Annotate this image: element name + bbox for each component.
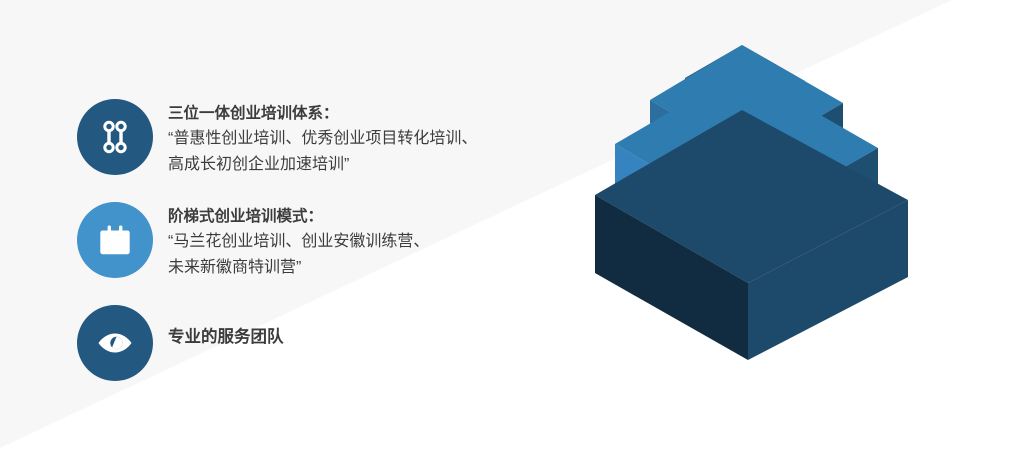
feature-item-0: 三位一体创业培训体系： “普惠性创业培训、优秀创业项目转化培训、 高成长初创企业… <box>77 99 477 178</box>
feature-icon-badge-2 <box>77 305 153 381</box>
feature-text-2: 专业的服务团队 <box>168 305 284 350</box>
feature-title-1: 阶梯式创业培训模式： <box>168 204 429 229</box>
feature-body-0: “普惠性创业培训、优秀创业项目转化培训、 高成长初创企业加速培训” <box>168 126 477 178</box>
feature-icon-badge-1 <box>77 202 153 278</box>
feature-item-2: 专业的服务团队 <box>77 305 284 381</box>
eye-icon <box>95 323 135 363</box>
link-nodes-icon <box>95 117 135 157</box>
slide-canvas: 三位一体创业培训体系： “普惠性创业培训、优秀创业项目转化培训、 高成长初创企业… <box>0 0 1022 474</box>
pyramid-svg <box>560 40 960 440</box>
feature-text-0: 三位一体创业培训体系： “普惠性创业培训、优秀创业项目转化培训、 高成长初创企业… <box>168 99 477 178</box>
feature-body-1: “马兰花创业培训、创业安徽训练营、 未来新徽商特训营” <box>168 229 429 281</box>
feature-list: 三位一体创业培训体系： “普惠性创业培训、优秀创业项目转化培训、 高成长初创企业… <box>0 0 560 474</box>
feature-title-2: 专业的服务团队 <box>168 325 284 350</box>
feature-icon-badge-0 <box>77 99 153 175</box>
calendar-icon <box>95 220 135 260</box>
feature-text-1: 阶梯式创业培训模式： “马兰花创业培训、创业安徽训练营、 未来新徽商特训营” <box>168 202 429 281</box>
feature-title-0: 三位一体创业培训体系： <box>168 101 477 126</box>
stepped-pyramid-diagram <box>560 40 960 440</box>
feature-item-1: 阶梯式创业培训模式： “马兰花创业培训、创业安徽训练营、 未来新徽商特训营” <box>77 202 429 281</box>
